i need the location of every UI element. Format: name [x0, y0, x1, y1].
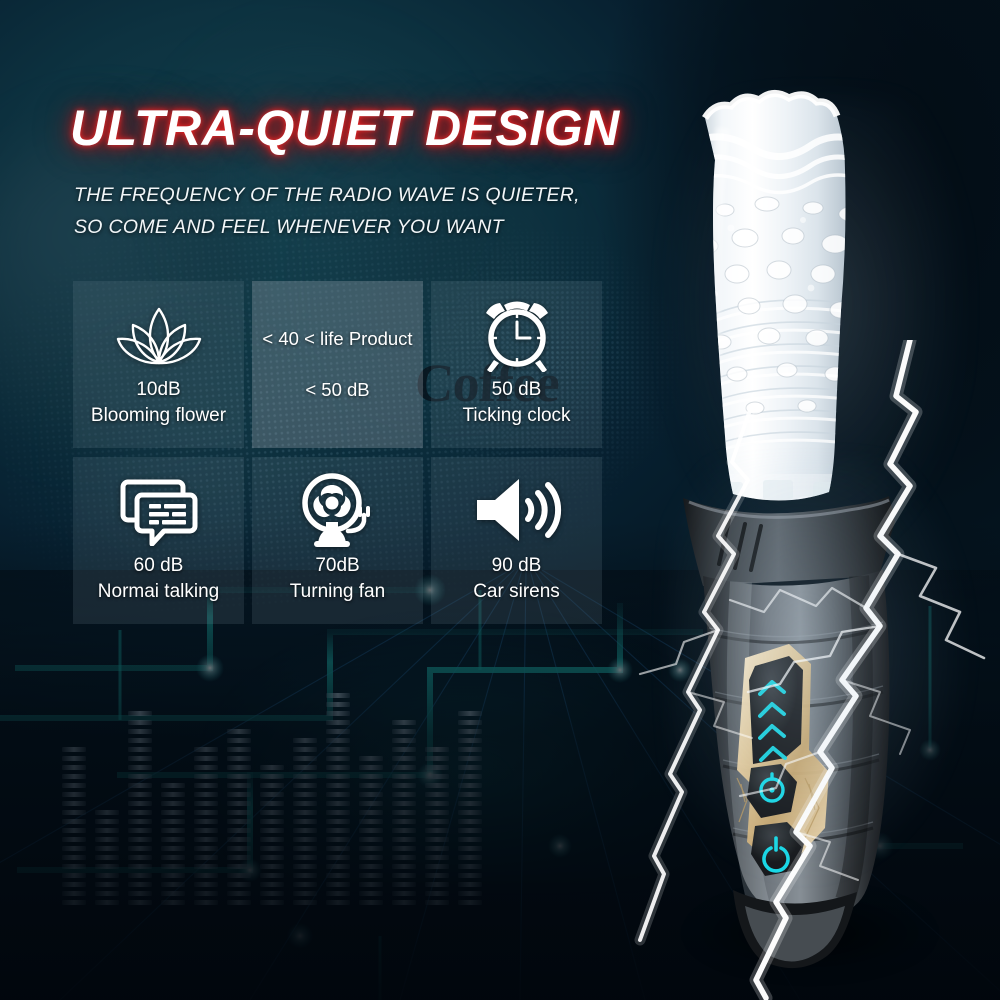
- device-body: [683, 496, 895, 968]
- lotus-flower-icon: [115, 295, 203, 373]
- alarm-clock-icon: [478, 295, 556, 373]
- spec-label: Ticking clock: [462, 403, 570, 429]
- grid-row: 60 dB Normai talking: [73, 457, 603, 624]
- spec-label: Turning fan: [290, 579, 385, 605]
- spec-cell-product-highlight[interactable]: < 40 < life Product < 50 dB: [252, 281, 423, 448]
- spec-cell-car-sirens[interactable]: 90 dB Car sirens: [431, 457, 602, 624]
- spec-db-value: 50 dB: [492, 377, 542, 403]
- chat-bubbles-icon: [116, 471, 202, 549]
- subtitle-line-1: THE FREQUENCY OF THE RADIO WAVE IS QUIET…: [74, 180, 674, 212]
- product-spec-line-2: < 50 dB: [305, 379, 369, 401]
- speaker-waves-icon: [472, 471, 562, 549]
- page-subtitle: THE FREQUENCY OF THE RADIO WAVE IS QUIET…: [74, 180, 674, 243]
- subtitle-line-2: SO COME AND FEEL WHENEVER YOU WANT: [74, 212, 674, 244]
- table-fan-icon: [296, 471, 380, 549]
- transparent-sleeve: [690, 93, 903, 532]
- product-spec-line-1: < 40 < life Product: [262, 328, 412, 350]
- spec-label: Normai talking: [98, 579, 219, 605]
- spec-label: Blooming flower: [91, 403, 226, 429]
- product-image: [645, 78, 975, 978]
- promo-banner: Coffee: [0, 0, 1000, 1000]
- spec-db-value: 10dB: [136, 377, 180, 403]
- intensity-chevrons-indicator: [749, 656, 803, 764]
- spec-cell-blooming-flower[interactable]: 10dB Blooming flower: [73, 281, 244, 448]
- spec-cell-turning-fan[interactable]: 70dB Turning fan: [252, 457, 423, 624]
- noise-level-grid: 10dB Blooming flower < 40 < life Product…: [73, 281, 603, 624]
- grid-row: 10dB Blooming flower < 40 < life Product…: [73, 281, 603, 448]
- spec-cell-ticking-clock[interactable]: 50 dB Ticking clock: [431, 281, 602, 448]
- spec-cell-normal-talking[interactable]: 60 dB Normai talking: [73, 457, 244, 624]
- spec-db-value: 70dB: [315, 553, 359, 579]
- spec-db-value: 60 dB: [134, 553, 184, 579]
- spec-label: Car sirens: [473, 579, 560, 605]
- spec-db-value: 90 dB: [492, 553, 542, 579]
- product-svg: [645, 78, 975, 978]
- page-title: ULTRA-QUIET DESIGN: [70, 103, 620, 153]
